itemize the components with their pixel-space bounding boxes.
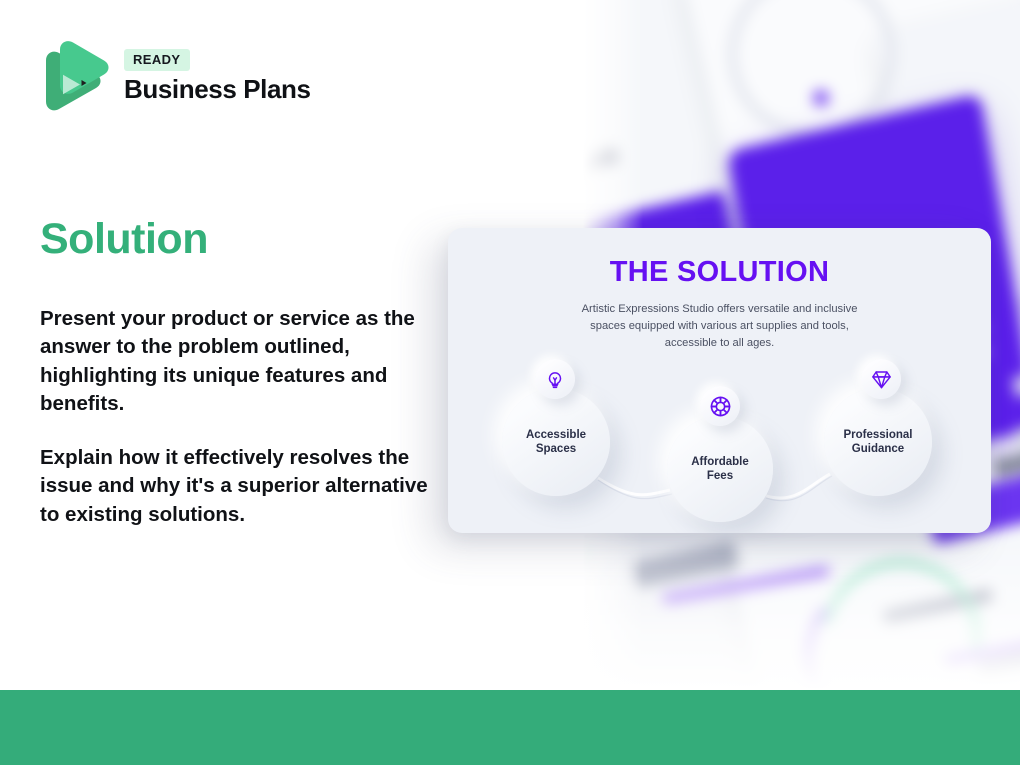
feature-label-line1: Professional	[843, 429, 912, 441]
slide-canvas: THE SOLUTION Artistic Expressions Studio…	[0, 0, 1020, 765]
feature-label-line2: Guidance	[852, 443, 904, 455]
body-paragraph-2: Explain how it effectively resolves the …	[40, 444, 432, 529]
card-title: THE SOLUTION	[448, 256, 991, 289]
footer-bar	[0, 690, 1020, 765]
card-subtitle: Artistic Expressions Studio offers versa…	[570, 301, 870, 352]
feature-label-line2: Fees	[707, 470, 733, 482]
feature-circle-professional-guidance[interactable]: Professional Guidance	[824, 388, 932, 496]
ready-badge: READY	[124, 49, 190, 71]
feature-label-line2: Spaces	[536, 443, 576, 455]
body-paragraph-1: Present your product or service as the a…	[40, 305, 432, 418]
feature-icon-bubble-3	[861, 359, 901, 399]
bg-dot	[813, 90, 829, 106]
logo-lockup: READY Business Plans	[40, 40, 311, 114]
page-title: Solution	[40, 215, 208, 264]
feature-label: Professional Guidance	[843, 428, 912, 457]
bg-fade-bottom	[583, 540, 1020, 690]
bg-text-bar	[992, 440, 1020, 478]
feature-label-line1: Affordable	[691, 456, 749, 468]
body-copy: Present your product or service as the a…	[40, 305, 432, 529]
diamond-icon	[870, 368, 893, 391]
lightbulb-icon	[544, 368, 566, 390]
feature-circle-affordable-fees[interactable]: Affordable Fees	[667, 416, 773, 522]
feature-icon-bubble-2	[700, 386, 740, 426]
donut-chart-icon	[709, 395, 732, 418]
solution-preview-card: THE SOLUTION Artistic Expressions Studio…	[448, 228, 991, 533]
brand-name: Business Plans	[124, 74, 311, 105]
feature-label: Affordable Fees	[691, 455, 749, 484]
feature-circle-accessible-spaces[interactable]: Accessible Spaces	[502, 388, 610, 496]
feature-label-line1: Accessible	[526, 429, 586, 441]
feature-label: Accessible Spaces	[526, 428, 586, 457]
play-triangle-logo-icon	[40, 40, 110, 114]
feature-icon-bubble-1	[535, 359, 575, 399]
